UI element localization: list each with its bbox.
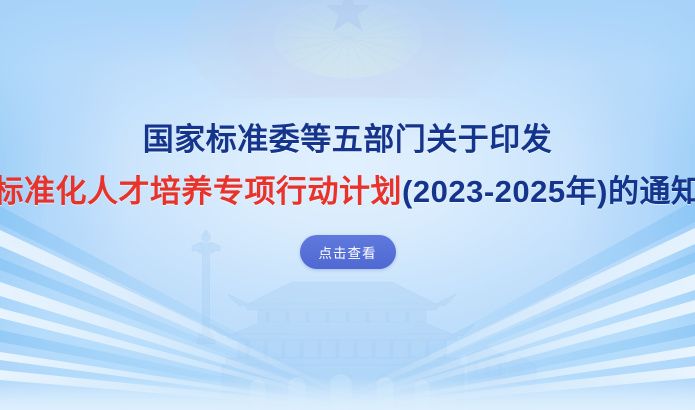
banner-title-line-2: 标准化人才培养专项行动计划(2023-2025年)的通知 — [0, 173, 695, 211]
banner-content: 国家标准委等五部门关于印发 标准化人才培养专项行动计划(2023-2025年)的… — [0, 0, 695, 410]
banner-title-suffix: (2023-2025年)的通知 — [402, 174, 695, 209]
view-details-button[interactable]: 点击查看 — [300, 235, 396, 269]
banner-title-line-1: 国家标准委等五部门关于印发 — [143, 121, 553, 159]
banner-title-highlight: 标准化人才培养专项行动计划 — [0, 174, 402, 209]
announcement-banner: 国家标准委等五部门关于印发 标准化人才培养专项行动计划(2023-2025年)的… — [0, 0, 695, 410]
